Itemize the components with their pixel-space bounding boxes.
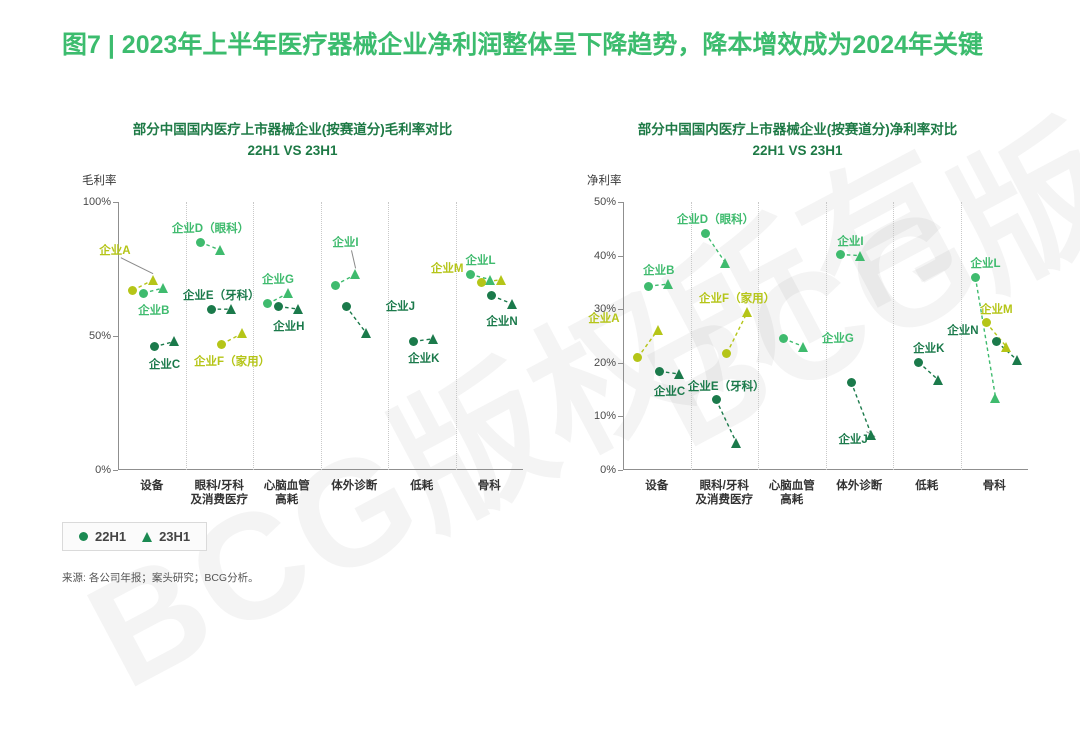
y-axis-label: 毛利率 [82, 172, 117, 188]
data-point-label: 企业F（家用） [699, 290, 775, 306]
data-point-label: 企业L [465, 252, 495, 268]
triangle-marker-icon [142, 532, 152, 542]
data-point-label: 企业M [980, 301, 1013, 317]
y-axis-tick-label: 50% [89, 330, 111, 342]
chart-legend: 22H1 23H1 [62, 522, 207, 551]
x-axis-category-label: 设备 [140, 479, 163, 493]
data-point-label: 企业J [838, 431, 867, 447]
x-axis-category-label: 心脑血管 高耗 [769, 479, 815, 508]
legend-label: 23H1 [159, 529, 190, 544]
page-title: 图7 | 2023年上半年医疗器械企业净利润整体呈下降趋势，降本增效成为2024… [62, 28, 1032, 63]
x-axis-category-label: 设备 [645, 479, 668, 493]
data-point-label: 企业G [822, 330, 854, 346]
data-point-label: 企业I [837, 233, 863, 249]
chart-title: 部分中国国内医疗上市器械企业(按赛道分)毛利率对比 22H1 VS 23H1 [70, 120, 515, 162]
data-point-label: 企业B [138, 302, 169, 318]
data-point-label: 企业D（眼科） [172, 220, 249, 236]
circle-marker-icon [79, 532, 88, 541]
x-axis-category-label: 心脑血管 高耗 [264, 479, 310, 508]
chart-title-line1: 部分中国国内医疗上市器械企业(按赛道分)净利率对比 [575, 120, 1020, 141]
y-axis-tick-label: 0% [600, 464, 616, 476]
y-axis-tick-mark [618, 470, 623, 471]
chart-title-line2: 22H1 VS 23H1 [70, 141, 515, 162]
chart-title: 部分中国国内医疗上市器械企业(按赛道分)净利率对比 22H1 VS 23H1 [575, 120, 1020, 162]
data-point-label: 企业C [654, 383, 685, 399]
data-point-label: 企业E（牙科） [183, 287, 260, 303]
chart-panel-net-margin: 部分中国国内医疗上市器械企业(按赛道分)净利率对比 22H1 VS 23H1 净… [545, 120, 1050, 540]
data-point-label: 企业G [262, 271, 294, 287]
y-axis-tick-label: 40% [594, 250, 616, 262]
data-point-label: 企业K [408, 350, 439, 366]
y-axis-tick-label: 100% [83, 196, 111, 208]
data-point-label: 企业A [588, 310, 619, 326]
data-point-label: 企业K [913, 340, 944, 356]
plot-area: 0%10%20%30%40%50%设备眼科/牙科 及消费医疗心脑血管 高耗体外诊… [623, 202, 1028, 470]
x-axis-category-label: 低耗 [915, 479, 938, 493]
y-axis-label: 净利率 [587, 172, 622, 188]
x-axis-category-label: 眼科/牙科 及消费医疗 [696, 479, 754, 508]
chart-panel-gross-margin: 部分中国国内医疗上市器械企业(按赛道分)毛利率对比 22H1 VS 23H1 毛… [40, 120, 545, 540]
x-axis-category-label: 低耗 [410, 479, 433, 493]
plot-area: 0%50%100%设备眼科/牙科 及消费医疗心脑血管 高耗体外诊断低耗骨科企业A… [118, 202, 523, 470]
y-axis-tick-mark [113, 470, 118, 471]
legend-item-23h1: 23H1 [142, 529, 190, 544]
y-axis-tick-label: 20% [594, 357, 616, 369]
y-axis-tick-label: 0% [95, 464, 111, 476]
y-axis-tick-label: 10% [594, 410, 616, 422]
x-axis-category-label: 体外诊断 [331, 479, 377, 493]
chart-title-line1: 部分中国国内医疗上市器械企业(按赛道分)毛利率对比 [70, 120, 515, 141]
data-point-label: 企业F（家用） [194, 353, 270, 369]
data-point-label: 企业I [332, 234, 358, 250]
data-point-label: 企业H [273, 318, 304, 334]
x-axis-category-label: 骨科 [983, 479, 1006, 493]
source-note: 来源: 各公司年报；案头研究；BCG分析。 [62, 570, 259, 585]
y-axis-tick-label: 50% [594, 196, 616, 208]
data-point-label: 企业D（眼科） [677, 211, 754, 227]
data-point-label: 企业A [99, 242, 130, 258]
legend-label: 22H1 [95, 529, 126, 544]
data-point-label: 企业J [386, 298, 415, 314]
x-axis-category-label: 体外诊断 [836, 479, 882, 493]
data-point-label: 企业L [970, 255, 1000, 271]
x-axis-category-label: 眼科/牙科 及消费医疗 [191, 479, 249, 508]
x-axis-category-label: 骨科 [478, 479, 501, 493]
data-point-label: 企业E（牙科） [688, 378, 765, 394]
data-point-label: 企业M [431, 260, 464, 276]
data-point-label: 企业N [486, 313, 517, 329]
data-point-label: 企业C [149, 356, 180, 372]
data-point-label: 企业N [947, 322, 978, 338]
legend-item-22h1: 22H1 [79, 529, 126, 544]
chart-title-line2: 22H1 VS 23H1 [575, 141, 1020, 162]
data-point-label: 企业B [643, 262, 674, 278]
